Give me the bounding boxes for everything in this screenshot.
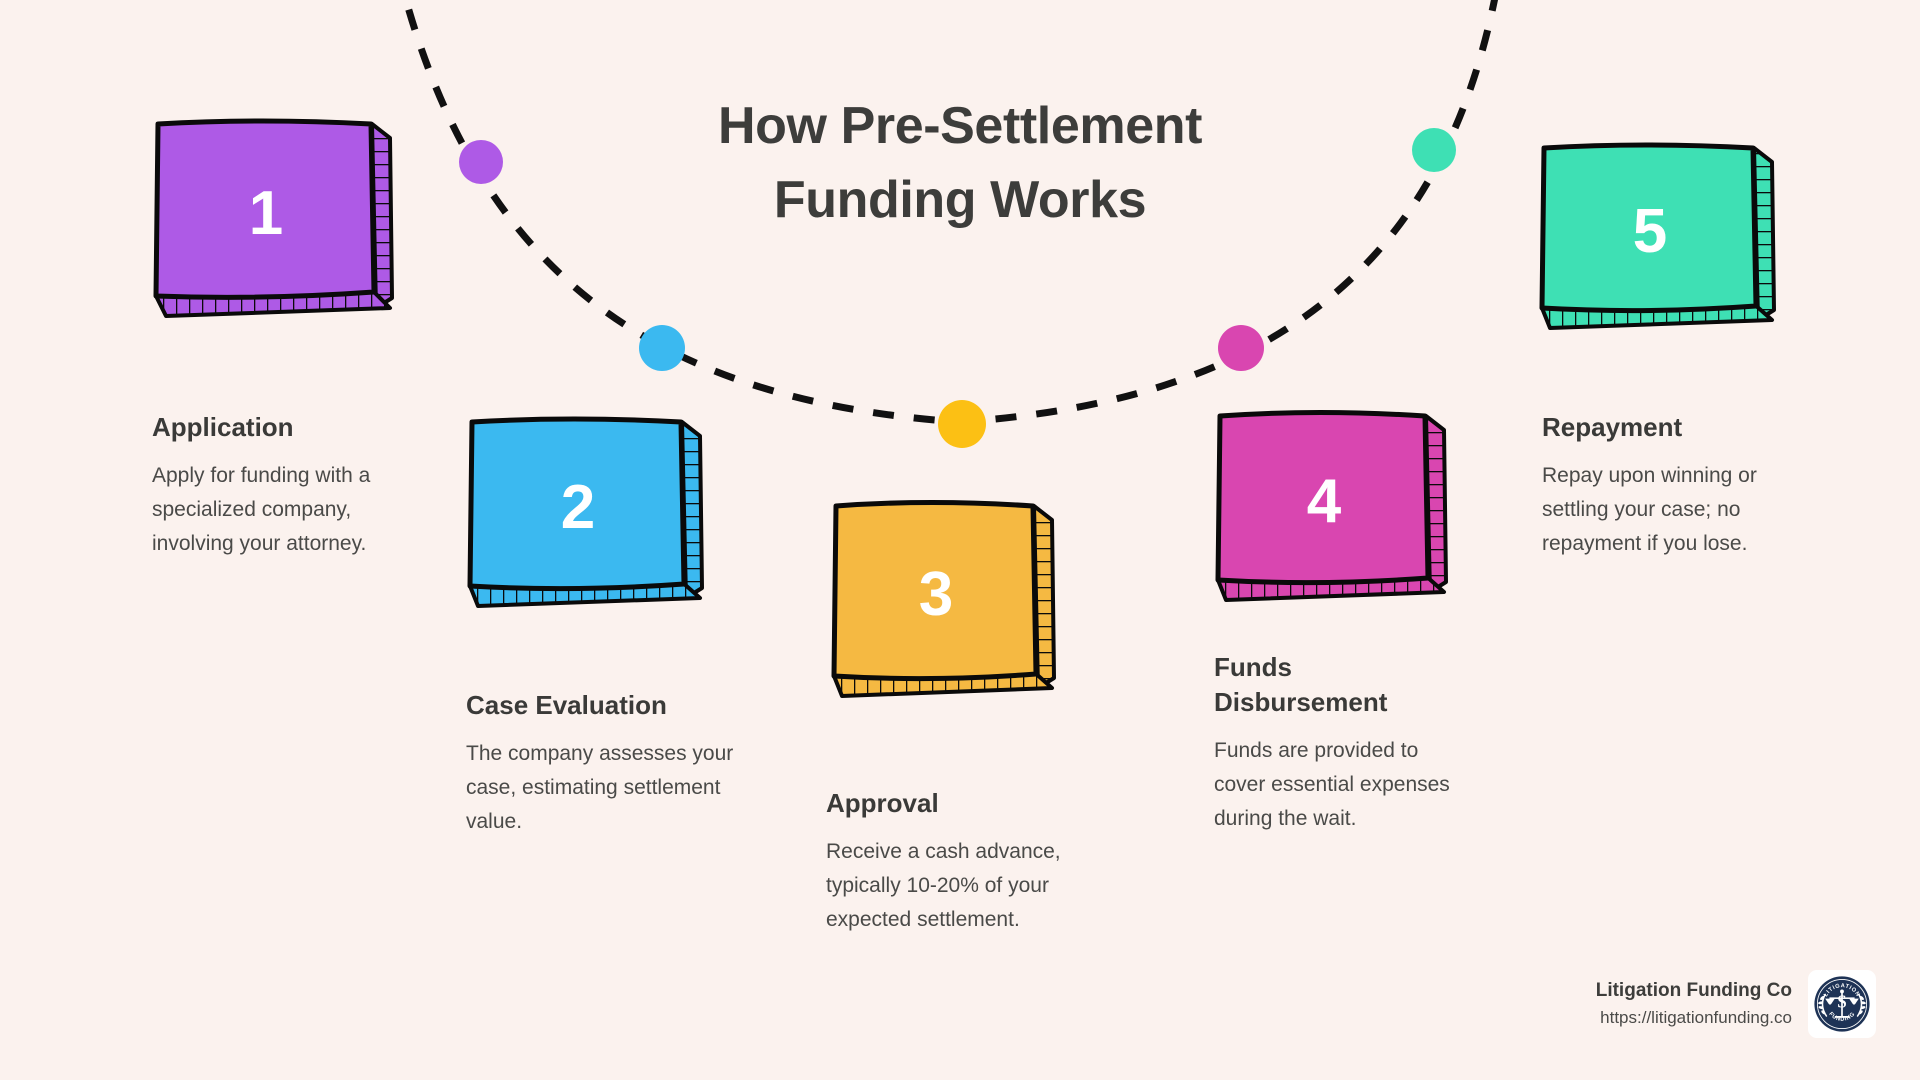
step-body-4: Funds are provided to cover essential ex…: [1214, 734, 1462, 836]
dollar-symbol: $: [1838, 992, 1847, 1012]
node-dot-3: [938, 400, 986, 448]
step-card-1[interactable]: 1: [150, 112, 408, 332]
step-text-3: Approval Receive a cash advance, typical…: [826, 786, 1106, 937]
step-card-2[interactable]: 2: [464, 412, 718, 622]
step-title-1: Application: [152, 410, 424, 445]
footer-branding: Litigation Funding Co https://litigation…: [1596, 970, 1876, 1038]
step-text-2: Case Evaluation The company assesses you…: [466, 688, 736, 839]
node-dot-5: [1412, 128, 1456, 172]
brand-url[interactable]: https://litigationfunding.co: [1596, 1005, 1792, 1031]
infographic-canvas: How Pre-Settlement Funding Works 1: [0, 0, 1920, 1080]
title-line-1: How Pre-Settlement: [610, 90, 1310, 164]
step-text-1: Application Apply for funding with a spe…: [152, 410, 424, 561]
node-dot-2: [639, 325, 685, 371]
step-body-1: Apply for funding with a specialized com…: [152, 459, 424, 561]
footer-text-block: Litigation Funding Co https://litigation…: [1596, 977, 1792, 1032]
step-title-4: Funds Disbursement: [1214, 650, 1462, 720]
title-line-2: Funding Works: [610, 164, 1310, 238]
step-body-2: The company assesses your case, estimati…: [466, 737, 736, 839]
step-title-3: Approval: [826, 786, 1106, 821]
scales-of-justice-seal-icon: $ LITIGATION FUNDING: [1812, 974, 1872, 1034]
brand-logo: $ LITIGATION FUNDING: [1808, 970, 1876, 1038]
step-text-4: Funds Disbursement Funds are provided to…: [1214, 650, 1462, 836]
node-dot-4: [1218, 325, 1264, 371]
step-body-3: Receive a cash advance, typically 10-20%…: [826, 835, 1106, 937]
step-title-5: Repayment: [1542, 410, 1804, 445]
step-title-2: Case Evaluation: [466, 688, 736, 723]
step-card-3[interactable]: 3: [828, 496, 1068, 714]
page-title: How Pre-Settlement Funding Works: [610, 90, 1310, 238]
step-card-5[interactable]: 5: [1536, 140, 1790, 344]
brand-name: Litigation Funding Co: [1596, 977, 1792, 1006]
step-body-5: Repay upon winning or settling your case…: [1542, 459, 1804, 561]
step-text-5: Repayment Repay upon winning or settling…: [1542, 410, 1804, 561]
node-dot-1: [459, 140, 503, 184]
step-card-4[interactable]: 4: [1212, 406, 1462, 616]
